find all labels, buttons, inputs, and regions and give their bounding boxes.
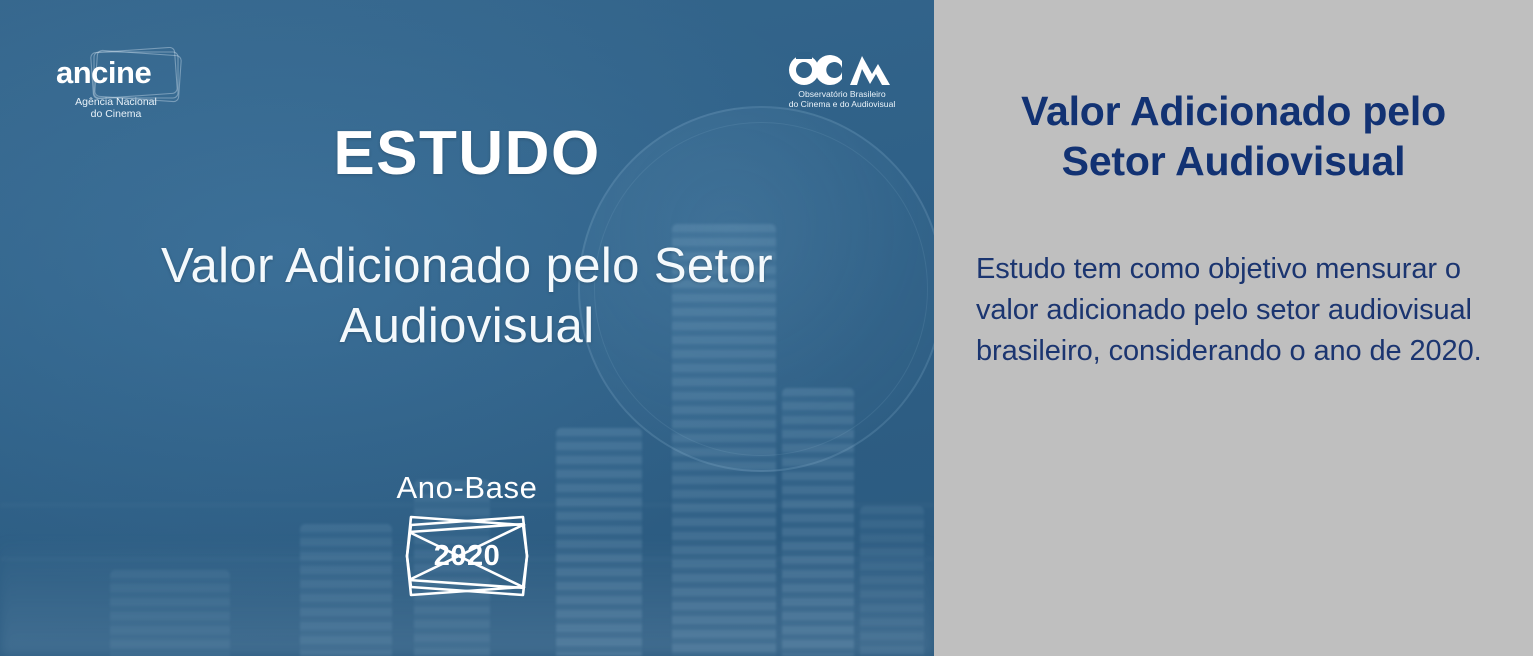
cover-kicker: ESTUDO [333,118,600,189]
ano-base-label: Ano-Base [397,470,538,506]
info-title: Valor Adicionado pelo Setor Audiovisual [972,86,1495,186]
cover-subtitle: Valor Adicionado pelo Setor Audiovisual [72,237,862,357]
year-value: 2020 [397,512,537,600]
year-ribbon-badge: 2020 [397,512,537,600]
info-body-text: Estudo tem como objetivo mensurar o valo… [972,249,1495,373]
slide-root: ancine Agência Nacional do Cinema Observ… [0,0,1533,656]
info-panel: Valor Adicionado pelo Setor Audiovisual … [934,0,1533,656]
cover-panel: ancine Agência Nacional do Cinema Observ… [0,0,934,656]
ano-base-block: Ano-Base 2020 [0,470,934,600]
